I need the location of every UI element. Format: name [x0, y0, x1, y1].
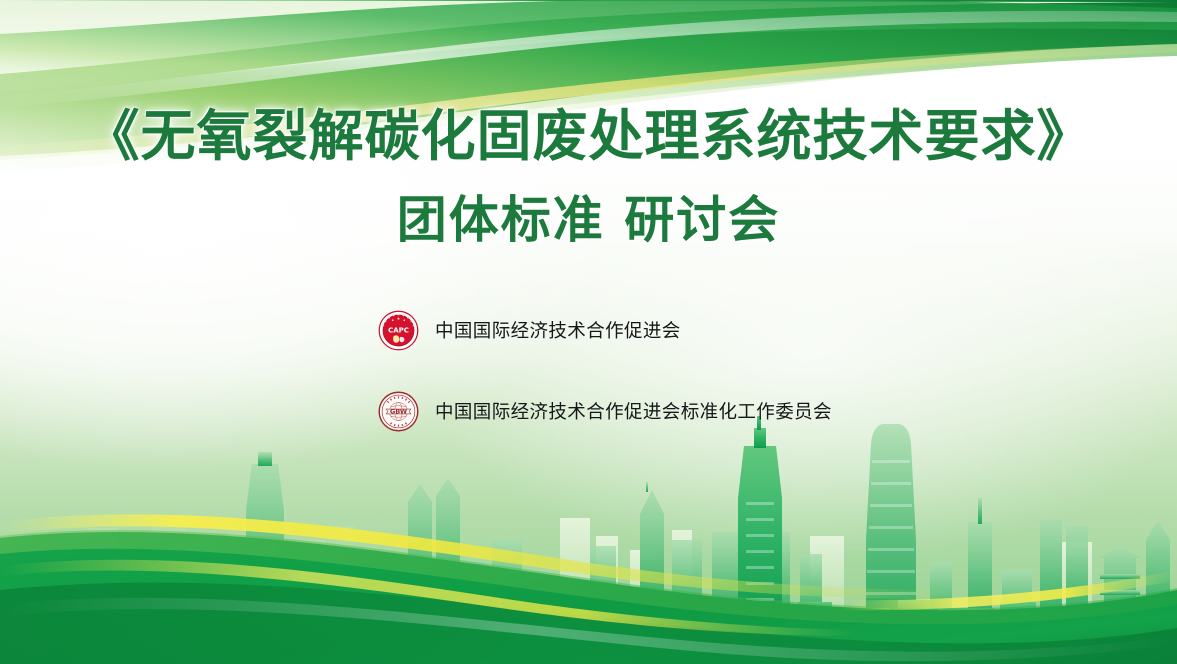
organization-label: 中国国际经济技术合作促进会: [435, 317, 681, 343]
gbw-seal-icon: GBW: [378, 391, 419, 432]
organization-row: GBW 中国国际经济技术合作促进会标准化工作委员会: [378, 389, 1118, 433]
organization-label: 中国国际经济技术合作促进会标准化工作委员会: [435, 398, 832, 424]
page-subtitle: 团体标准 研讨会: [0, 191, 1177, 250]
title-block: 《无氧裂解碳化固废处理系统技术要求》 团体标准 研讨会: [0, 104, 1177, 250]
capc-seal-icon: CAPC: [378, 310, 419, 351]
organization-row: CAPC 中国国际经济技术合作促进会: [378, 308, 1118, 352]
capc-seal-text: CAPC: [388, 326, 409, 334]
organization-list: CAPC 中国国际经济技术合作促进会: [378, 308, 1118, 433]
bottom-wave-decoration: [0, 494, 1177, 664]
presentation-slide: 《无氧裂解碳化固废处理系统技术要求》 团体标准 研讨会: [0, 0, 1177, 664]
gbw-seal-text: GBW: [390, 407, 408, 415]
page-title: 《无氧裂解碳化固废处理系统技术要求》: [0, 104, 1177, 169]
